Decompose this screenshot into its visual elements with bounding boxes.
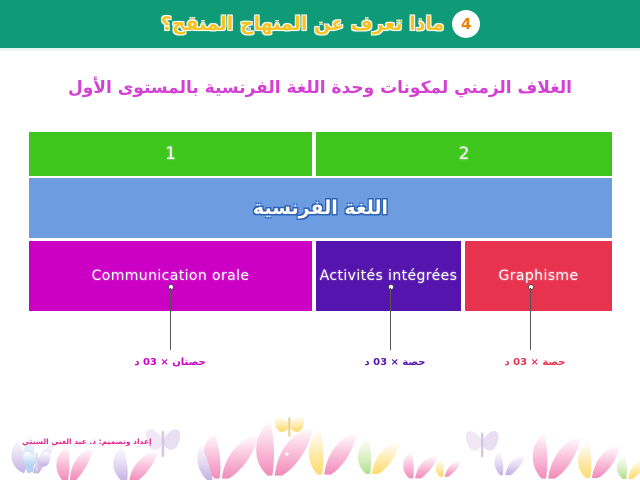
connector-dot-activites-integrees [388, 284, 394, 290]
page-title: ماذا تعرف عن المنهاج المنقح؟ [161, 13, 445, 35]
table-row-components: Communication orale Activités intégrées … [29, 241, 612, 311]
connector-line-communication-orale [170, 288, 171, 350]
timetable: 1 2 اللغة الفرنسية Communication orale A… [29, 132, 612, 311]
level-cell-2: 2 [316, 132, 612, 176]
subtitle: الغلاف الزمني لمكونات وحدة اللغة الفرنسي… [0, 78, 640, 98]
table-row-levels: 1 2 [29, 132, 612, 176]
subject-cell-french: اللغة الفرنسية [29, 178, 612, 238]
credit-watermark: إعداد وتصميم: ذ. عبد الغني السبتي [22, 437, 152, 446]
connector-line-graphisme [530, 288, 531, 350]
leaf-label-graphisme: حصة × 30 د [485, 357, 585, 368]
leaf-label-activites-integrees: حصة × 30 د [345, 357, 445, 368]
table-row-subject: اللغة الفرنسية [29, 178, 612, 238]
connector-dot-graphisme [528, 284, 534, 290]
connector-line-activites-integrees [390, 288, 391, 350]
slide-number-badge: 4 [453, 11, 479, 37]
leaf-label-communication-orale: حصتان × 30 د [120, 357, 220, 368]
component-cell-graphisme: Graphisme [465, 241, 612, 311]
header-underline-divider [0, 48, 640, 51]
component-cell-activites-integrees: Activités intégrées [316, 241, 461, 311]
header-content: ماذا تعرف عن المنهاج المنقح؟ 4 [0, 0, 640, 48]
level-cell-1: 1 [29, 132, 312, 176]
connector-dot-communication-orale [168, 284, 174, 290]
slide-canvas: ماذا تعرف عن المنهاج المنقح؟ 4 الغلاف ال… [0, 0, 640, 480]
